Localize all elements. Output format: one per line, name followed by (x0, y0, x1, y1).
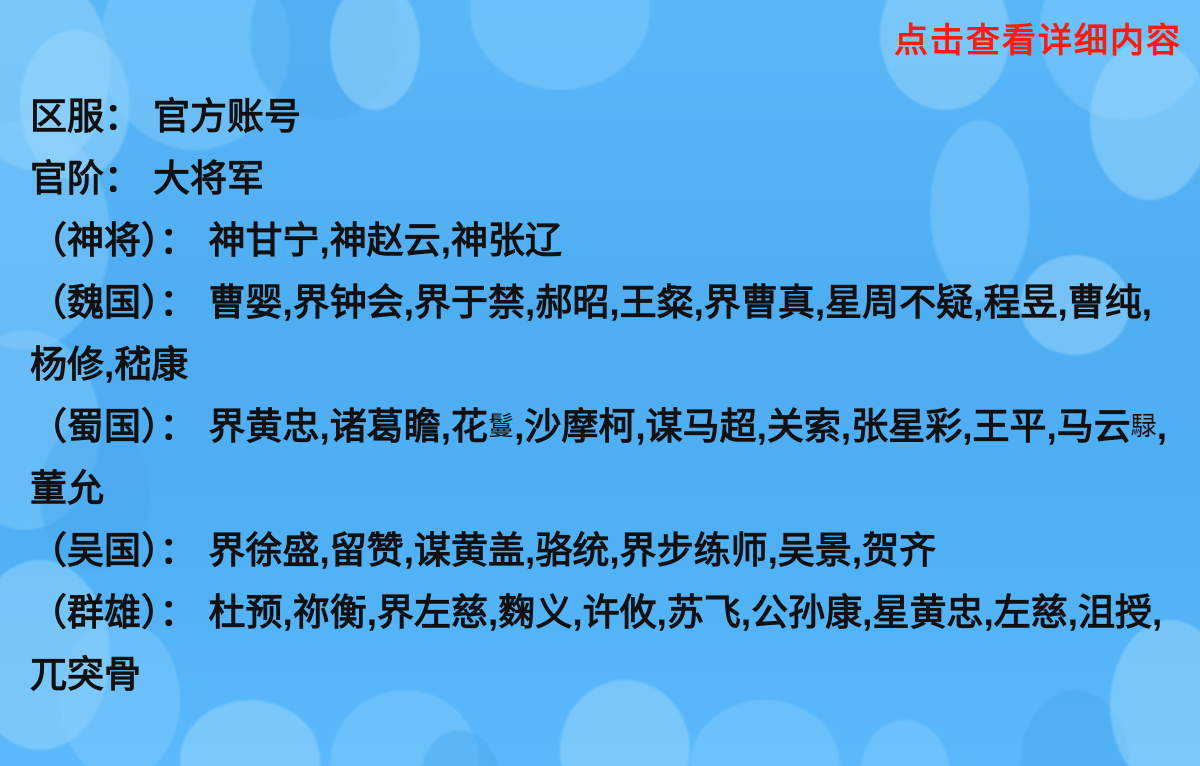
group-line-shu: （蜀国）：界黄忠,诸葛瞻,花鬘,沙摩柯,谋马超,关索,张星彩,王平,马云騄,董允 (30, 396, 1188, 520)
rank-label: 官阶： (30, 158, 141, 199)
group-label: （蜀国）： (30, 406, 197, 447)
server-label: 区服： (30, 96, 141, 137)
headline-call-to-action[interactable]: 点击查看详细内容 (894, 24, 1182, 58)
group-line-wu: （吴国）：界徐盛,留赞,谋黄盖,骆统,界步练师,吴景,贺齐 (30, 520, 1188, 582)
group-label: （吴国）： (30, 530, 197, 571)
group-label: （神将）： (30, 220, 197, 261)
group-label: （魏国）： (30, 282, 197, 323)
group-members: 杜预,祢衡,界左慈,麴义,许攸,苏飞,公孙康,星黄忠,左慈,沮授,兀突骨 (30, 592, 1162, 695)
group-line-qunxiong: （群雄）：杜预,祢衡,界左慈,麴义,许攸,苏飞,公孙康,星黄忠,左慈,沮授,兀突… (30, 582, 1188, 706)
rare-glyph-lu: 騄 (1131, 412, 1157, 442)
rare-glyph-man: 鬘 (488, 412, 514, 442)
group-label: （群雄）： (30, 592, 197, 633)
content-layer: 点击查看详细内容 区服：官方账号 官阶：大将军 （神将）：神甘宁,神赵云,神张辽… (0, 0, 1200, 766)
rank-value: 大将军 (153, 158, 264, 199)
group-members: 神甘宁,神赵云,神张辽 (209, 220, 563, 261)
group-members: 曹婴,界钟会,界于禁,郝昭,王粲,界曹真,星周不疑,程昱,曹纯,杨修,嵇康 (30, 282, 1152, 385)
rank-line: 官阶：大将军 (30, 148, 1188, 210)
server-line: 区服：官方账号 (30, 86, 1188, 148)
group-members-part1: 界黄忠,诸葛瞻,花 (209, 406, 489, 447)
group-members: 界徐盛,留赞,谋黄盖,骆统,界步练师,吴景,贺齐 (209, 530, 937, 571)
group-line-wei: （魏国）：曹婴,界钟会,界于禁,郝昭,王粲,界曹真,星周不疑,程昱,曹纯,杨修,… (30, 272, 1188, 396)
group-members-part2: ,沙摩柯,谋马超,关索,张星彩,王平,马云 (514, 406, 1131, 447)
account-details-block: 区服：官方账号 官阶：大将军 （神将）：神甘宁,神赵云,神张辽 （魏国）：曹婴,… (30, 86, 1188, 706)
group-line-shenjiang: （神将）：神甘宁,神赵云,神张辽 (30, 210, 1188, 272)
server-value: 官方账号 (153, 96, 301, 137)
screenshot-root: 点击查看详细内容 区服：官方账号 官阶：大将军 （神将）：神甘宁,神赵云,神张辽… (0, 0, 1200, 766)
